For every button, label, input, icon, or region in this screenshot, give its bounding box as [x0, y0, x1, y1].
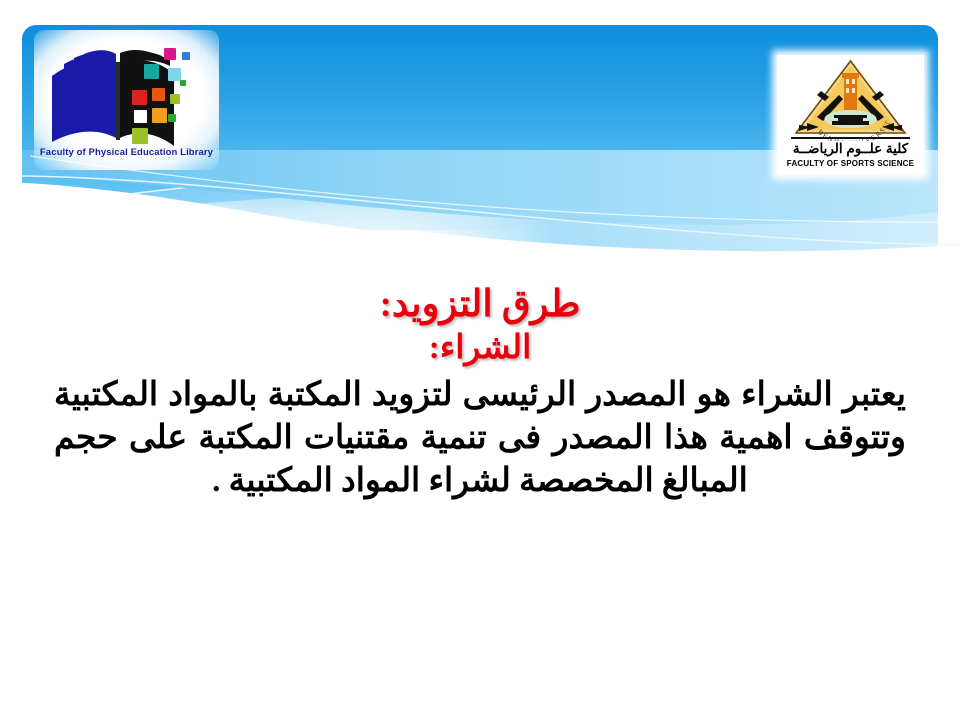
slide-canvas: Faculty of Physical Education Library [0, 0, 960, 720]
university-divider [791, 137, 910, 139]
university-logo: BENHA UNIVERSITY كلية علــوم الرياضــة F… [777, 55, 924, 175]
library-logo: Faculty of Physical Education Library [34, 30, 219, 170]
slide-title-primary: طرق التزويد: [30, 282, 930, 328]
university-english-name: FACULTY OF SPORTS SCIENCE [777, 159, 924, 168]
slide-body-paragraph: يعتبر الشراء هو المصدر الرئيسى لتزويد ال… [30, 374, 930, 503]
university-arabic-name: كلية علــوم الرياضــة [777, 141, 924, 157]
slide-content: طرق التزويد: الشراء: يعتبر الشراء هو الم… [30, 282, 930, 503]
benha-university-pyramid-icon: BENHA UNIVERSITY [777, 57, 924, 141]
slide-title-secondary: الشراء: [30, 328, 930, 369]
library-logo-caption: Faculty of Physical Education Library [34, 147, 219, 158]
